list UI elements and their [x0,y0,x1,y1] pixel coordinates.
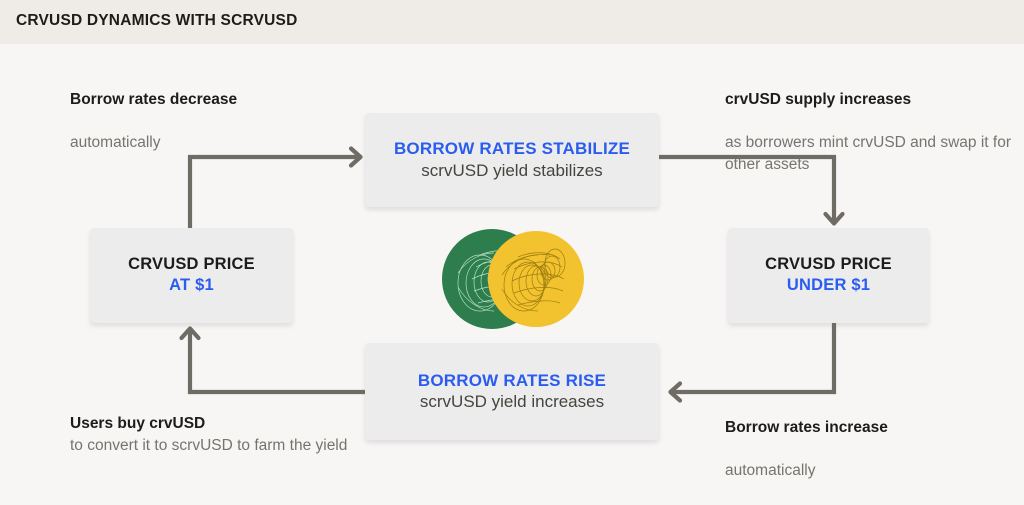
curve-crvusd-scrvusd-logo [432,227,592,331]
annotation-borrow-rates-decrease: Borrow rates decrease automatically [70,68,370,154]
node-crvusd-price-under-1[interactable]: CRVUSD PRICE UNDER $1 [728,228,929,323]
annotation-borrow-rates-increase: Borrow rates increase automatically [725,396,1015,482]
annotation-bl-bold: Users buy crvUSD [70,415,205,432]
node-bottom-subtitle: scrvUSD yield increases [420,391,604,413]
node-borrow-rates-rise[interactable]: BORROW RATES RISE scrvUSD yield increase… [365,343,659,440]
annotation-tl-bold: Borrow rates decrease [70,91,237,108]
node-borrow-rates-stabilize[interactable]: BORROW RATES STABILIZE scrvUSD yield sta… [365,113,659,207]
node-right-subtitle: UNDER $1 [787,275,870,296]
header-bar: CRVUSD DYNAMICS WITH SCRVUSD [0,0,1024,44]
logo-gold-circle [488,231,584,327]
annotation-users-buy-crvusd: Users buy crvUSD to convert it to scrvUS… [70,392,360,456]
annotation-tr-bold: crvUSD supply increases [725,91,911,108]
node-left-title: CRVUSD PRICE [128,254,255,275]
node-top-title: BORROW RATES STABILIZE [394,138,630,160]
node-left-subtitle: AT $1 [169,275,214,296]
node-right-title: CRVUSD PRICE [765,254,892,275]
annotation-tl-rest: automatically [70,134,160,151]
node-top-subtitle: scrvUSD yield stabilizes [421,160,602,182]
annotation-crvusd-supply-increases: crvUSD supply increases as borrowers min… [725,68,1020,175]
annotation-bl-rest: to convert it to scrvUSD to farm the yie… [70,437,347,454]
node-crvusd-price-at-1[interactable]: CRVUSD PRICE AT $1 [90,228,293,323]
annotation-br-bold: Borrow rates increase [725,419,888,436]
node-bottom-title: BORROW RATES RISE [418,370,606,392]
diagram-canvas: CRVUSD DYNAMICS WITH SCRVUSD [0,0,1024,505]
annotation-br-rest: automatically [725,462,815,479]
annotation-tr-rest: as borrowers mint crvUSD and swap it for… [725,134,1011,172]
page-title: CRVUSD DYNAMICS WITH SCRVUSD [16,12,297,30]
